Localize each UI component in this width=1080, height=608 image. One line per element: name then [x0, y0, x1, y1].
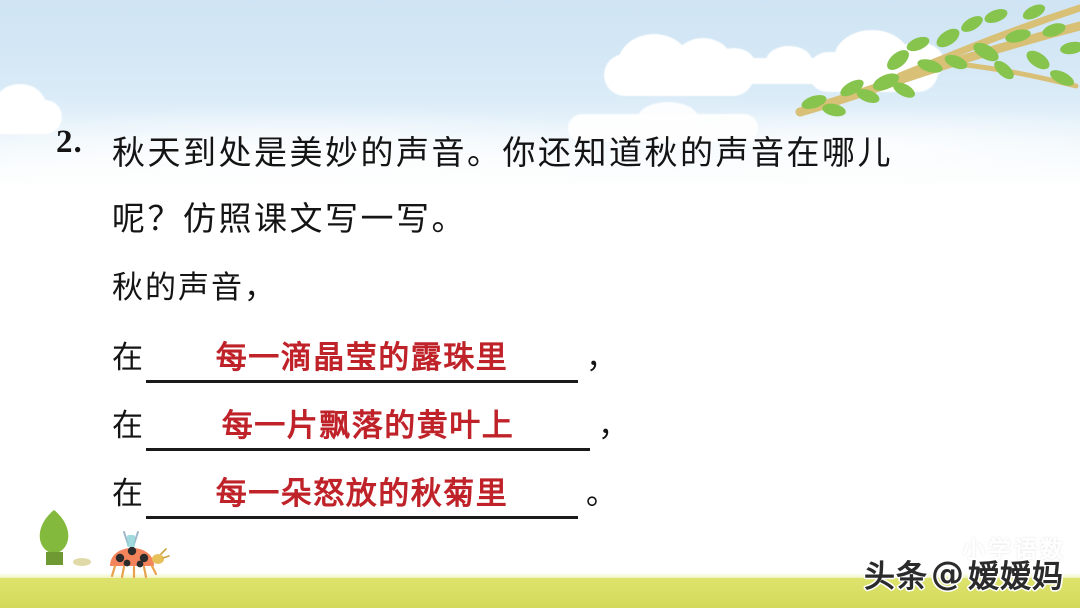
at-symbol: @ — [931, 554, 965, 593]
account-name: 嫒嫒妈 — [968, 551, 1064, 596]
blank-punctuation-1: ， — [586, 332, 617, 377]
question-prompt-line-2: 呢？仿照课文写一写。 — [112, 192, 467, 240]
pebble-icon — [73, 558, 91, 566]
ladybug-icon — [110, 532, 169, 577]
question-prompt-line-1: 秋天到处是美妙的声音。你还知道秋的声音在哪儿 — [112, 126, 893, 174]
answer-row-1: 在每一滴晶莹的露珠里， — [112, 332, 617, 378]
account-watermark: 头条 @ 嫒嫒妈 — [864, 551, 1064, 596]
blank-punctuation-2: ， — [598, 400, 629, 445]
blank-prefix-2: 在 — [112, 400, 144, 445]
ladybug-and-tree-icon — [14, 504, 214, 590]
tree-icon — [40, 510, 69, 565]
blank-answer-2[interactable]: 每一片飘落的黄叶上 — [146, 400, 590, 451]
blank-prefix-1: 在 — [112, 332, 144, 377]
answer-row-2: 在每一片飘落的黄叶上， — [112, 400, 629, 446]
bottom-left-decoration — [14, 504, 214, 590]
blank-answer-1[interactable]: 每一滴晶莹的露珠里 — [146, 332, 578, 383]
blank-punctuation-3: 。 — [586, 468, 617, 513]
slide-canvas: 2. 秋天到处是美妙的声音。你还知道秋的声音在哪儿 呢？仿照课文写一写。 秋的声… — [0, 0, 1080, 608]
toutiao-label: 头条 — [864, 551, 928, 596]
answer-heading: 秋的声音， — [112, 262, 277, 307]
ladybug-head — [152, 554, 164, 564]
question-number: 2. — [56, 124, 83, 161]
